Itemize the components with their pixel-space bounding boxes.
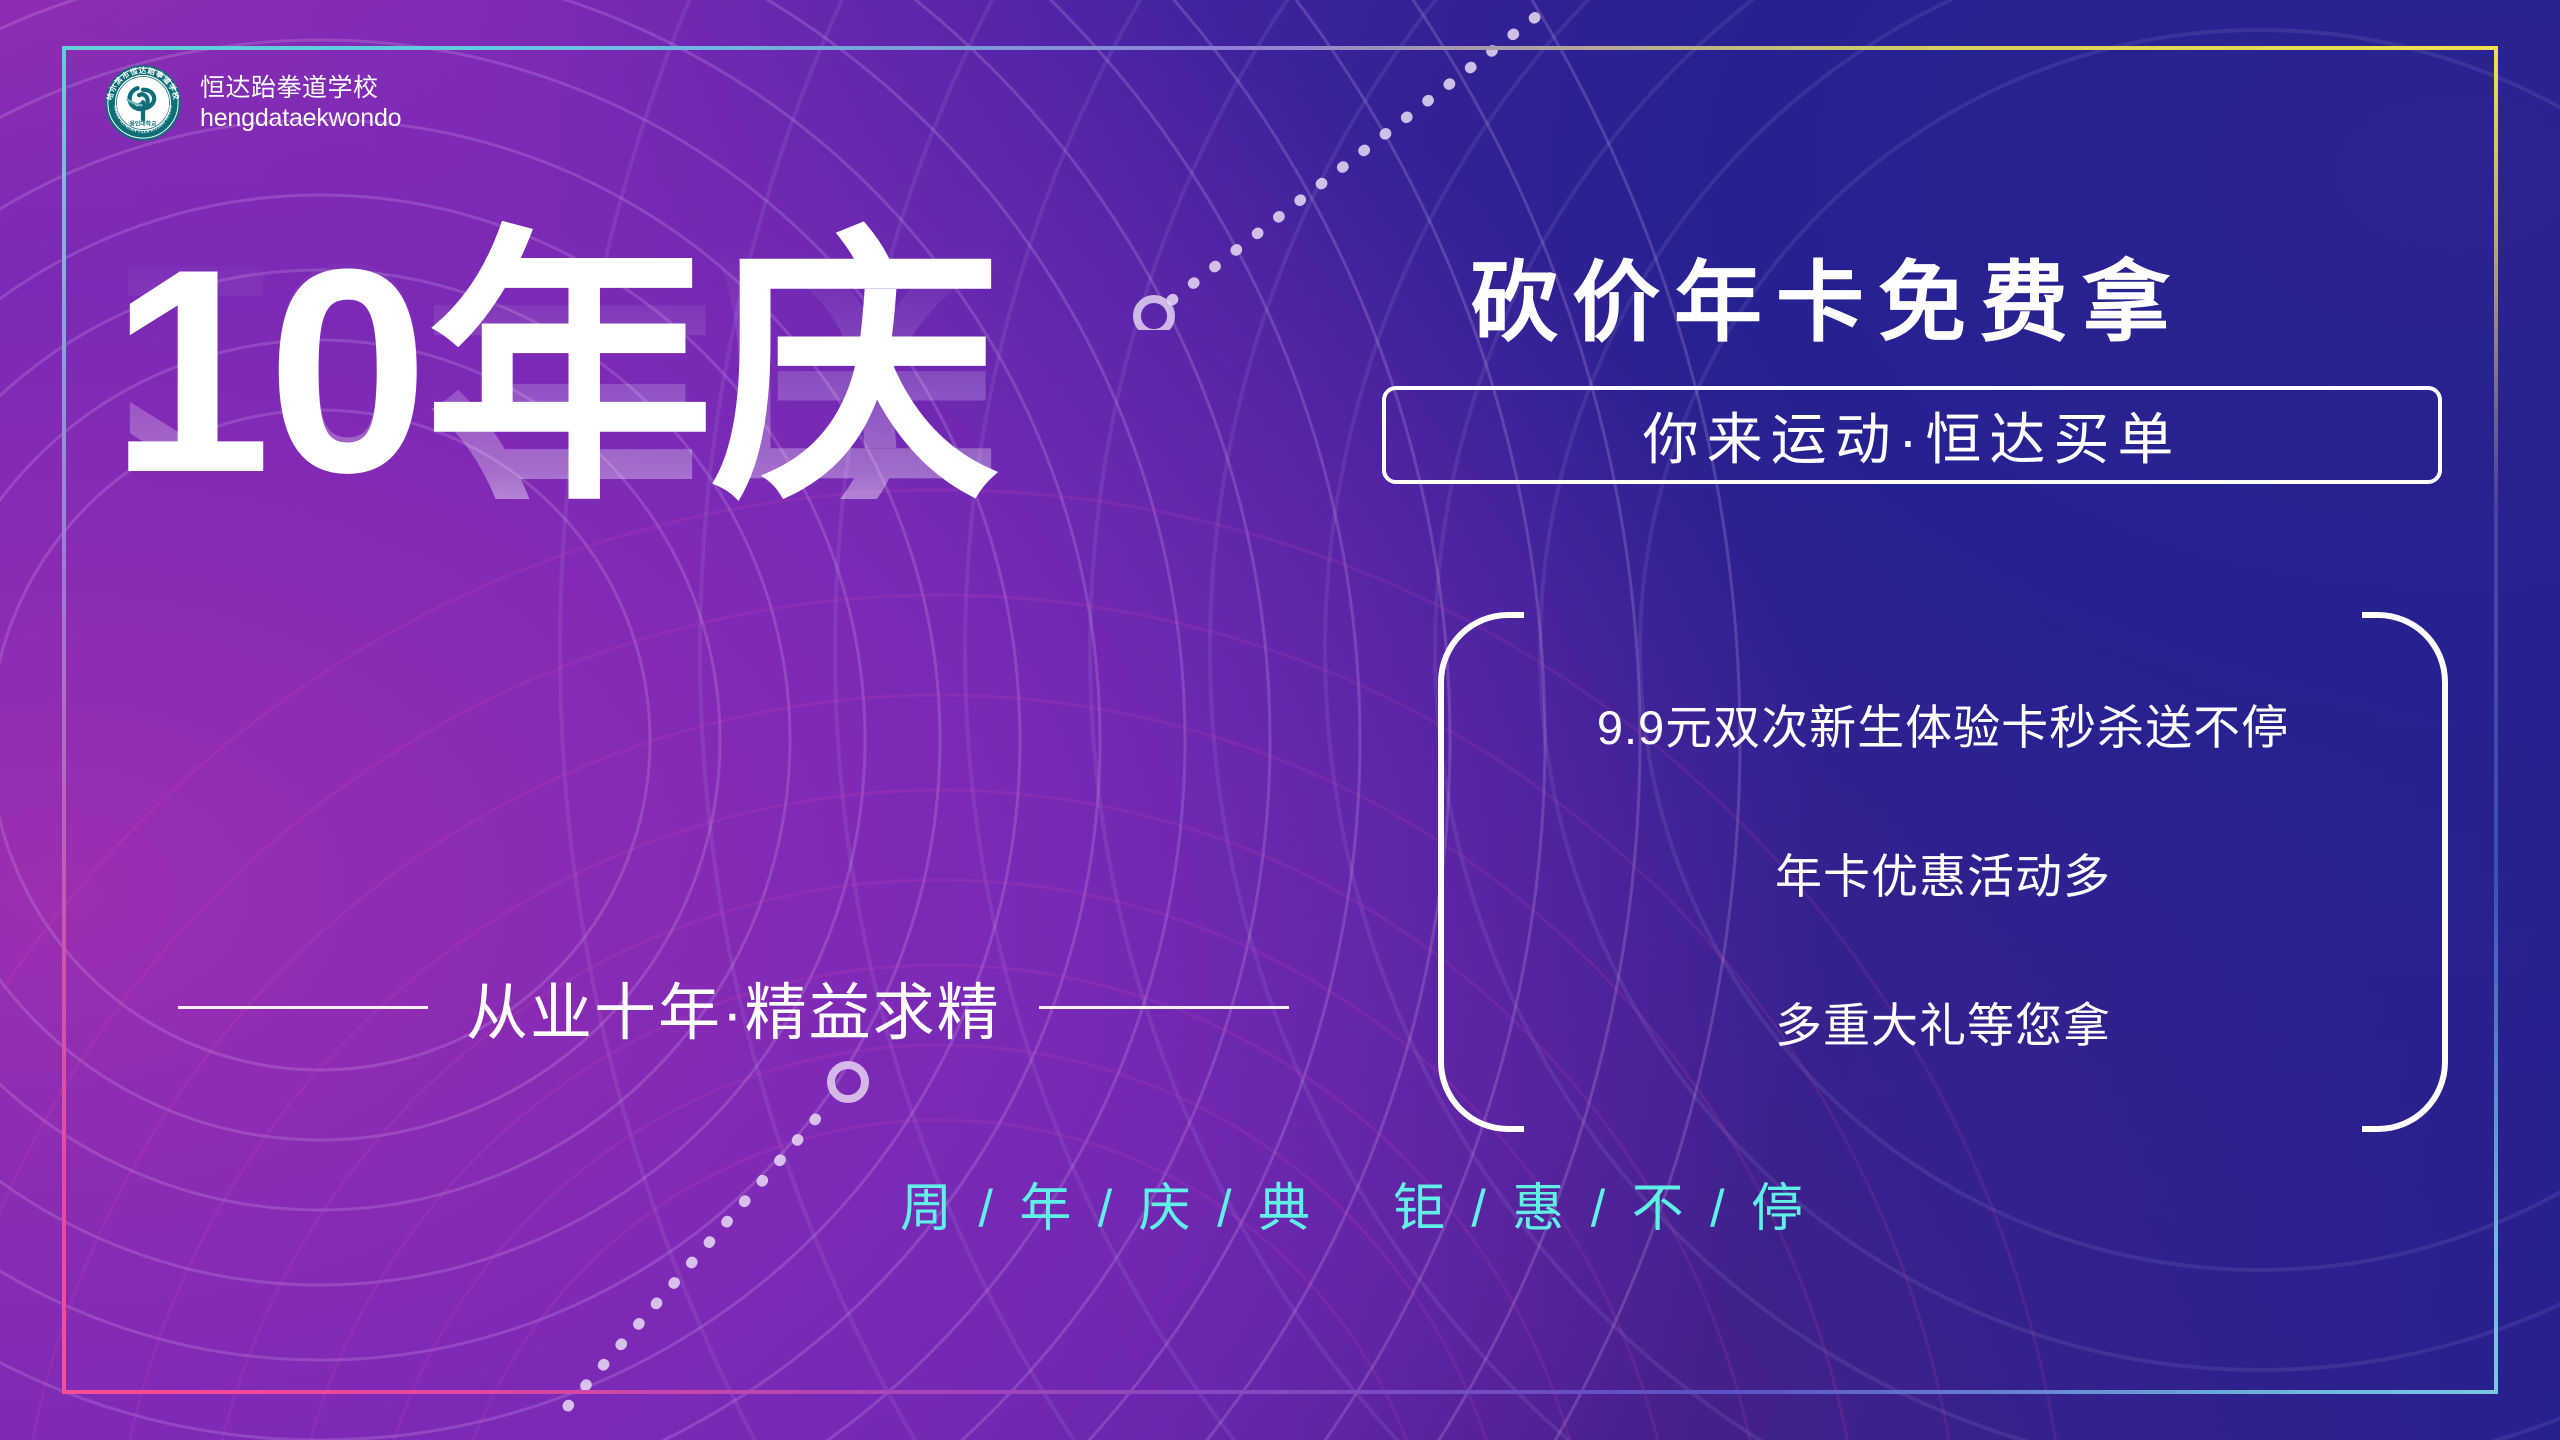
hero-title-block: 10年庆 10年庆 bbox=[110, 238, 997, 766]
hero-title-reflection: 10年庆 bbox=[110, 232, 997, 499]
footer-slogan: 周 / 年 / 庆 / 典 钜 / 惠 / 不 / 停 bbox=[900, 1166, 1809, 1241]
dot-end-circle-top bbox=[1137, 299, 1171, 330]
promo-subhead-box: 你来运动·恒达买单 bbox=[1382, 386, 2442, 484]
list-item: 9.9元双次新生体验卡秒杀送不停 bbox=[1597, 689, 2289, 758]
bracket-left-icon bbox=[1438, 612, 1524, 1132]
tagline-text: 从业十年·精益求精 bbox=[466, 962, 1001, 1052]
brand-name-block: 恒达跆拳道学校 hengdataekwondo bbox=[200, 73, 401, 134]
promo-subhead-text: 你来运动·恒达买单 bbox=[1643, 395, 2182, 476]
frame-edge-top bbox=[62, 46, 2498, 50]
taekwondo-school-seal-icon: 哈尔滨市恒达跆拳道学校 HARBIN HENGDA TAEKWONDO SCHO… bbox=[104, 64, 182, 142]
list-item: 多重大礼等您拿 bbox=[1775, 987, 2111, 1056]
tagline-rule-right bbox=[1039, 1006, 1289, 1009]
promo-poster: 哈尔滨市恒达跆拳道学校 HARBIN HENGDA TAEKWONDO SCHO… bbox=[0, 0, 2560, 1440]
brand-name-cn: 恒达跆拳道学校 bbox=[200, 73, 401, 104]
dotted-connector-bottom bbox=[540, 1040, 940, 1420]
promo-headline: 砍价年卡免费拿 bbox=[1470, 232, 2184, 359]
bracket-right-icon bbox=[2362, 612, 2448, 1132]
footer-slogan-left: 周 / 年 / 庆 / 典 bbox=[900, 1180, 1316, 1238]
frame-edge-right bbox=[2494, 46, 2498, 1394]
list-item: 年卡优惠活动多 bbox=[1775, 838, 2111, 907]
dot-end-circle-bottom bbox=[831, 1065, 865, 1099]
frame-edge-left bbox=[62, 46, 66, 1394]
brand-name-en: hengdataekwondo bbox=[200, 103, 401, 134]
tagline-rule-left bbox=[178, 1006, 428, 1009]
brand-lockup: 哈尔滨市恒达跆拳道学校 HARBIN HENGDA TAEKWONDO SCHO… bbox=[104, 64, 401, 142]
promo-bullets-block: 9.9元双次新生体验卡秒杀送不停 年卡优惠活动多 多重大礼等您拿 bbox=[1438, 612, 2448, 1132]
footer-slogan-right: 钜 / 惠 / 不 / 停 bbox=[1393, 1180, 1809, 1238]
promo-bullet-list: 9.9元双次新生体验卡秒杀送不停 年卡优惠活动多 多重大礼等您拿 bbox=[1524, 612, 2362, 1132]
frame-edge-bottom bbox=[62, 1390, 2498, 1394]
tagline-block: 从业十年·精益求精 bbox=[178, 962, 1289, 1052]
